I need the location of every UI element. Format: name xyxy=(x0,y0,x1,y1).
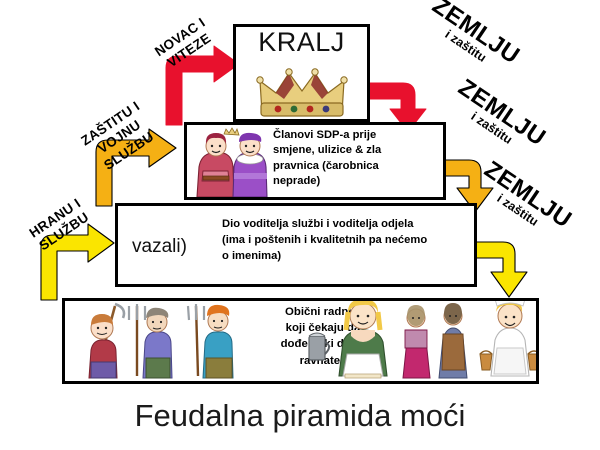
peasant-fork-icon xyxy=(183,298,245,380)
level-king-box: KRALJ xyxy=(233,24,370,122)
level-workers-box: Obični radnici koji čekaju da dođe neki … xyxy=(62,298,539,384)
peasant-scythe-icon xyxy=(71,300,133,380)
crown-icon xyxy=(256,65,348,119)
peasant-pitchfork-icon xyxy=(125,298,183,380)
label-hranu-i-sluzbu: HRANU I SLUŽBU xyxy=(8,183,113,268)
peasant-woman-brown-icon xyxy=(431,298,475,380)
label-zastitu-i-vojnu-sluzbu: ZAŠTITU I VOJNU SLUŽBU xyxy=(60,86,180,190)
label-novac-i-viteze: NOVAC I VITEZE xyxy=(133,2,238,87)
page-title: Feudalna piramida moći xyxy=(0,398,600,434)
nobles-text: Članovi SDP-a prije smjene, ulizice & zl… xyxy=(273,128,439,190)
peasant-woman-green-icon xyxy=(327,298,399,380)
king-label: KRALJ xyxy=(236,29,367,56)
feudal-pyramid-diagram: KRALJ xyxy=(0,0,600,450)
peasant-maid-buckets-icon xyxy=(477,298,539,380)
level-nobles-box: Članovi SDP-a prije smjene, ulizice & zl… xyxy=(184,122,446,200)
vassals-text: Dio voditelja službi i voditelja odjela … xyxy=(222,217,468,265)
level-vassals-box: vazali) Dio voditelja službi i voditelja… xyxy=(115,203,477,287)
vassals-word: vazali) xyxy=(132,236,187,258)
arrow-down-yellow xyxy=(475,242,527,297)
noble-couple-icon xyxy=(191,127,269,199)
